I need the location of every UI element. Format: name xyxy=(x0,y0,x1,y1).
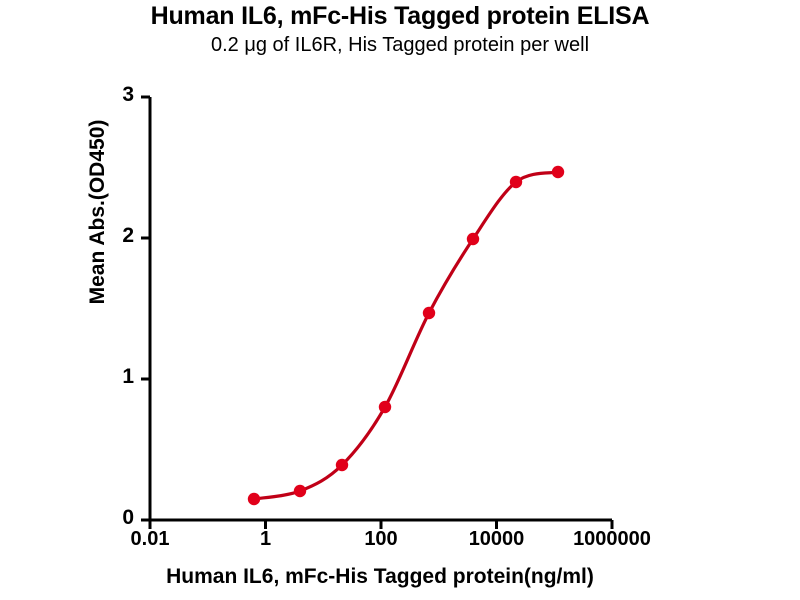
y-tick-label: 1 xyxy=(94,365,134,389)
chart-figure: Human IL6, mFc-His Tagged protein ELISA … xyxy=(0,0,800,600)
axis-ticks xyxy=(141,97,612,529)
data-point xyxy=(248,493,260,505)
x-axis-title: Human IL6, mFc-His Tagged protein(ng/ml) xyxy=(0,565,760,589)
y-axis-title: Mean Abs.(OD450) xyxy=(86,102,110,322)
y-tick-label: 0 xyxy=(94,506,134,530)
data-point xyxy=(467,233,479,245)
data-point xyxy=(552,166,564,178)
data-markers xyxy=(248,166,564,505)
data-point xyxy=(423,307,435,319)
data-curve xyxy=(254,172,558,499)
data-point xyxy=(336,459,348,471)
axis-lines xyxy=(150,97,612,520)
data-point xyxy=(510,176,522,188)
data-point xyxy=(379,401,391,413)
data-point xyxy=(294,485,306,497)
x-tick-label: 1000000 xyxy=(542,528,682,551)
